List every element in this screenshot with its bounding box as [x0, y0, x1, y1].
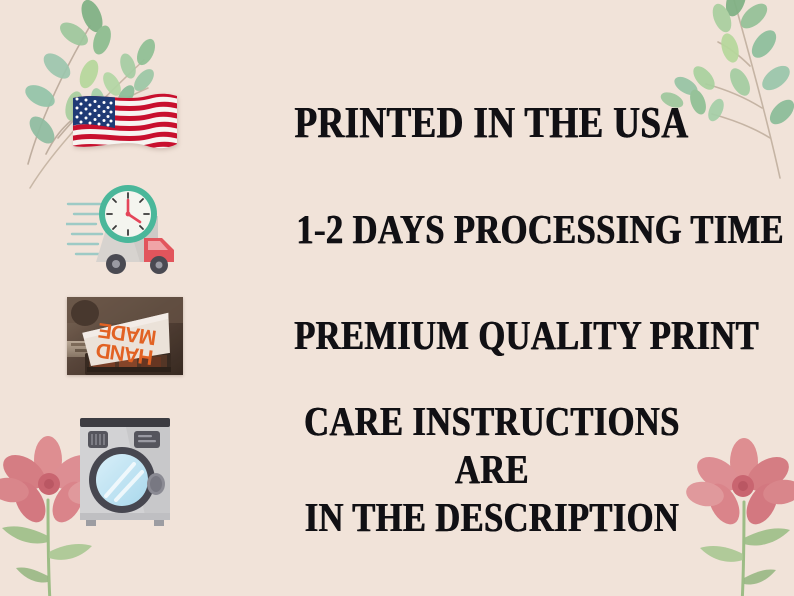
feature-row-processing-time: 1-2 DAYS PROCESSING TIME [0, 180, 794, 280]
feature-text-cell: CARE INSTRUCTIONS ARE IN THE DESCRIPTION [250, 398, 794, 542]
feature-text-cell: PRINTED IN THE USA [250, 97, 794, 148]
feature-row-printed-in-usa: PRINTED IN THE USA [0, 78, 794, 168]
fast-delivery-clock-truck-icon [66, 180, 184, 280]
feature-text-cell: PREMIUM QUALITY PRINT [250, 312, 794, 360]
headline-printed-in-usa: PRINTED IN THE USA [295, 97, 689, 148]
headline-care-instructions: CARE INSTRUCTIONS ARE IN THE DESCRIPTION [289, 398, 696, 542]
feature-icon-cell [0, 180, 250, 280]
feature-row-premium-quality: HAND MADE PREMIUM QUALITY PRINT [0, 288, 794, 383]
feature-row-care-instructions: CARE INSTRUCTIONS ARE IN THE DESCRIPTION [0, 395, 794, 545]
headline-premium-quality-print: PREMIUM QUALITY PRINT [294, 312, 759, 360]
headline-processing-time: 1-2 DAYS PROCESSING TIME [296, 206, 784, 254]
handmade-screen-print-photo: HAND MADE [67, 297, 183, 375]
headline-care-line-2: IN THE DESCRIPTION [289, 494, 696, 542]
feature-icon-cell: HAND MADE [0, 297, 250, 375]
us-flag-icon [71, 90, 179, 156]
headline-care-line-1: CARE INSTRUCTIONS ARE [289, 398, 696, 494]
feature-icon-cell [0, 90, 250, 156]
shop-info-graphic: PRINTED IN THE USA [0, 0, 794, 596]
feature-text-cell: 1-2 DAYS PROCESSING TIME [250, 206, 794, 254]
feature-icon-cell [0, 408, 250, 532]
washing-machine-icon [72, 408, 178, 532]
